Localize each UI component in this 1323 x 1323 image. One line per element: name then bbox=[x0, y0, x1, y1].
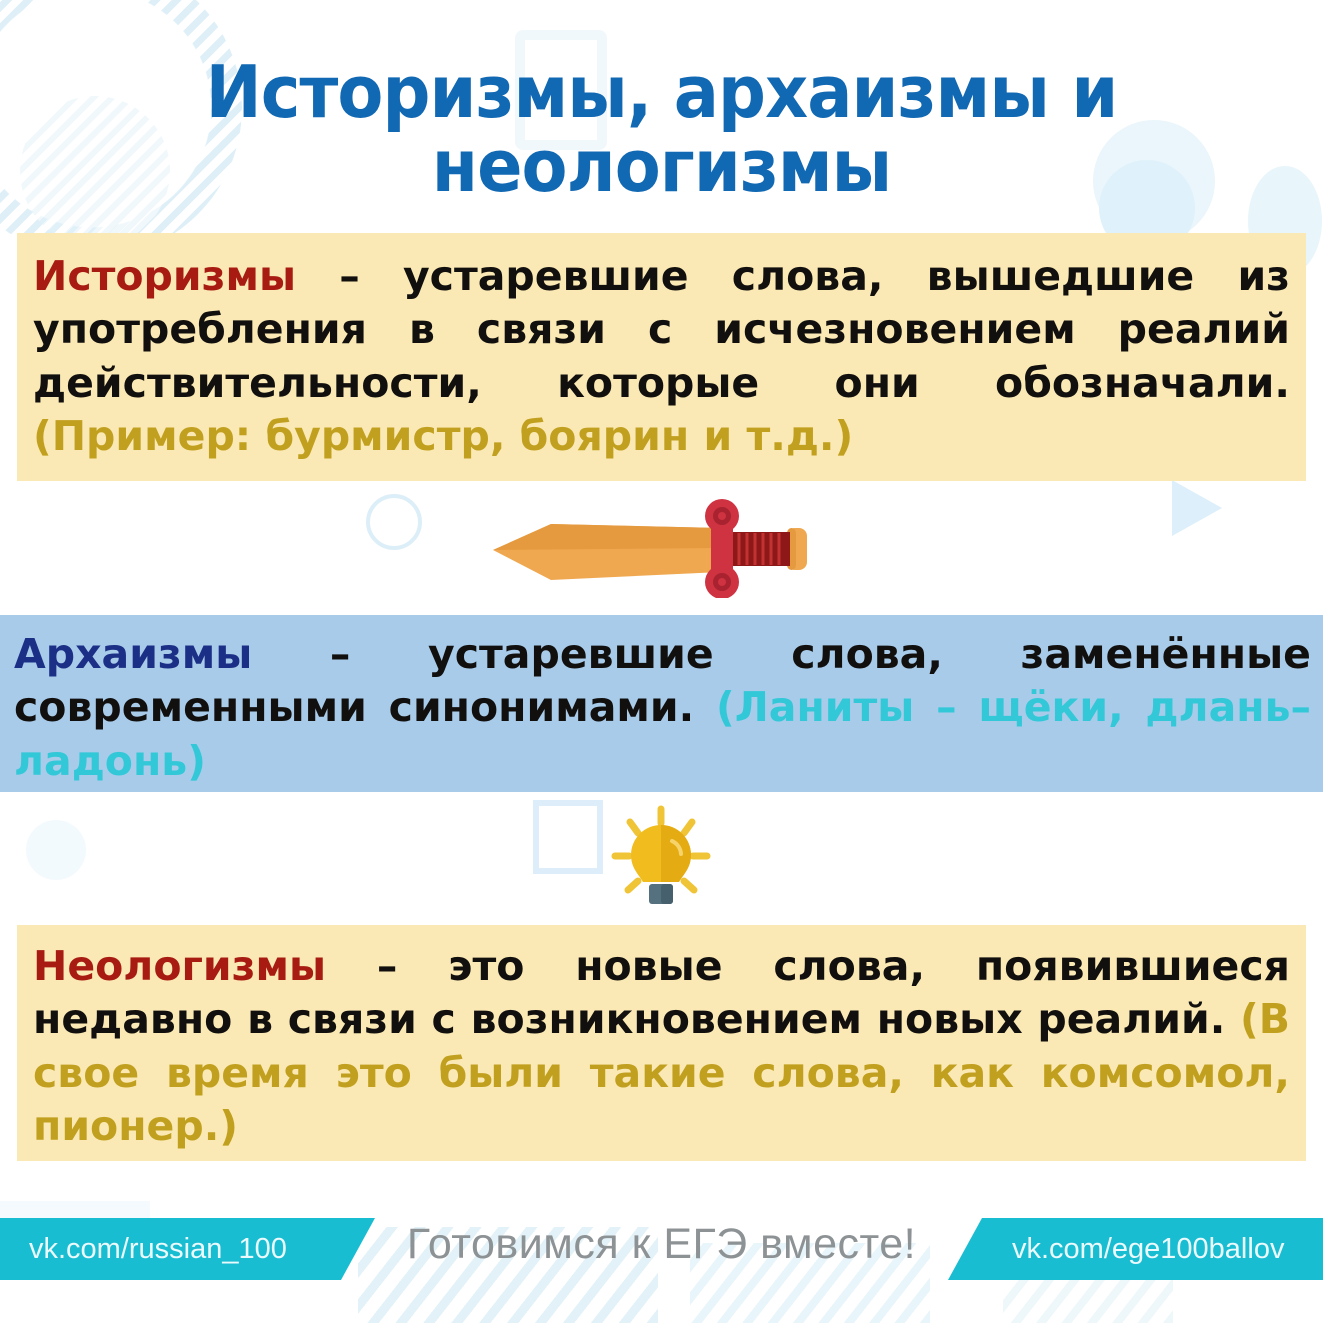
example-historisms: (Пример: бурмистр, боярин и т.д.) bbox=[33, 412, 853, 460]
vk-link-russian-100[interactable]: vk.com/russian_100 bbox=[0, 1218, 375, 1280]
definition-block-neologisms: Неологизмы – это новые слова, появившиес… bbox=[17, 925, 1306, 1161]
lightbulb-icon bbox=[609, 805, 713, 913]
term-historisms: Историзмы bbox=[33, 252, 296, 300]
page-title-line-1: Историзмы, архаизмы и bbox=[46, 56, 1276, 129]
dash-archaisms: – bbox=[252, 630, 428, 678]
dash-neologisms: – bbox=[326, 942, 448, 990]
sword-icon bbox=[489, 498, 834, 598]
definition-text-archaisms: Архаизмы – устаревшие слова, заменённые … bbox=[14, 628, 1311, 788]
dash-historisms: – bbox=[296, 252, 403, 300]
vk-link-ege100ballov[interactable]: vk.com/ege100ballov bbox=[948, 1218, 1323, 1280]
page-title-line-2: неологизмы bbox=[46, 130, 1276, 203]
definition-text-neologisms: Неологизмы – это новые слова, появившиес… bbox=[33, 940, 1290, 1153]
page-title: Историзмы, архаизмы и неологизмы bbox=[46, 56, 1276, 203]
definition-block-archaisms: Архаизмы – устаревшие слова, заменённые … bbox=[0, 615, 1323, 792]
footer: Готовимся к ЕГЭ вместе! vk.com/russian_1… bbox=[0, 1200, 1323, 1323]
term-archaisms: Архаизмы bbox=[14, 630, 252, 678]
term-neologisms: Неологизмы bbox=[33, 942, 326, 990]
infographic-page: Историзмы, архаизмы и неологизмы Историз… bbox=[0, 0, 1323, 1323]
definition-block-historisms: Историзмы – устаревшие слова, вышедшие и… bbox=[17, 233, 1306, 481]
definition-text-historisms: Историзмы – устаревшие слова, вышедшие и… bbox=[33, 250, 1290, 463]
